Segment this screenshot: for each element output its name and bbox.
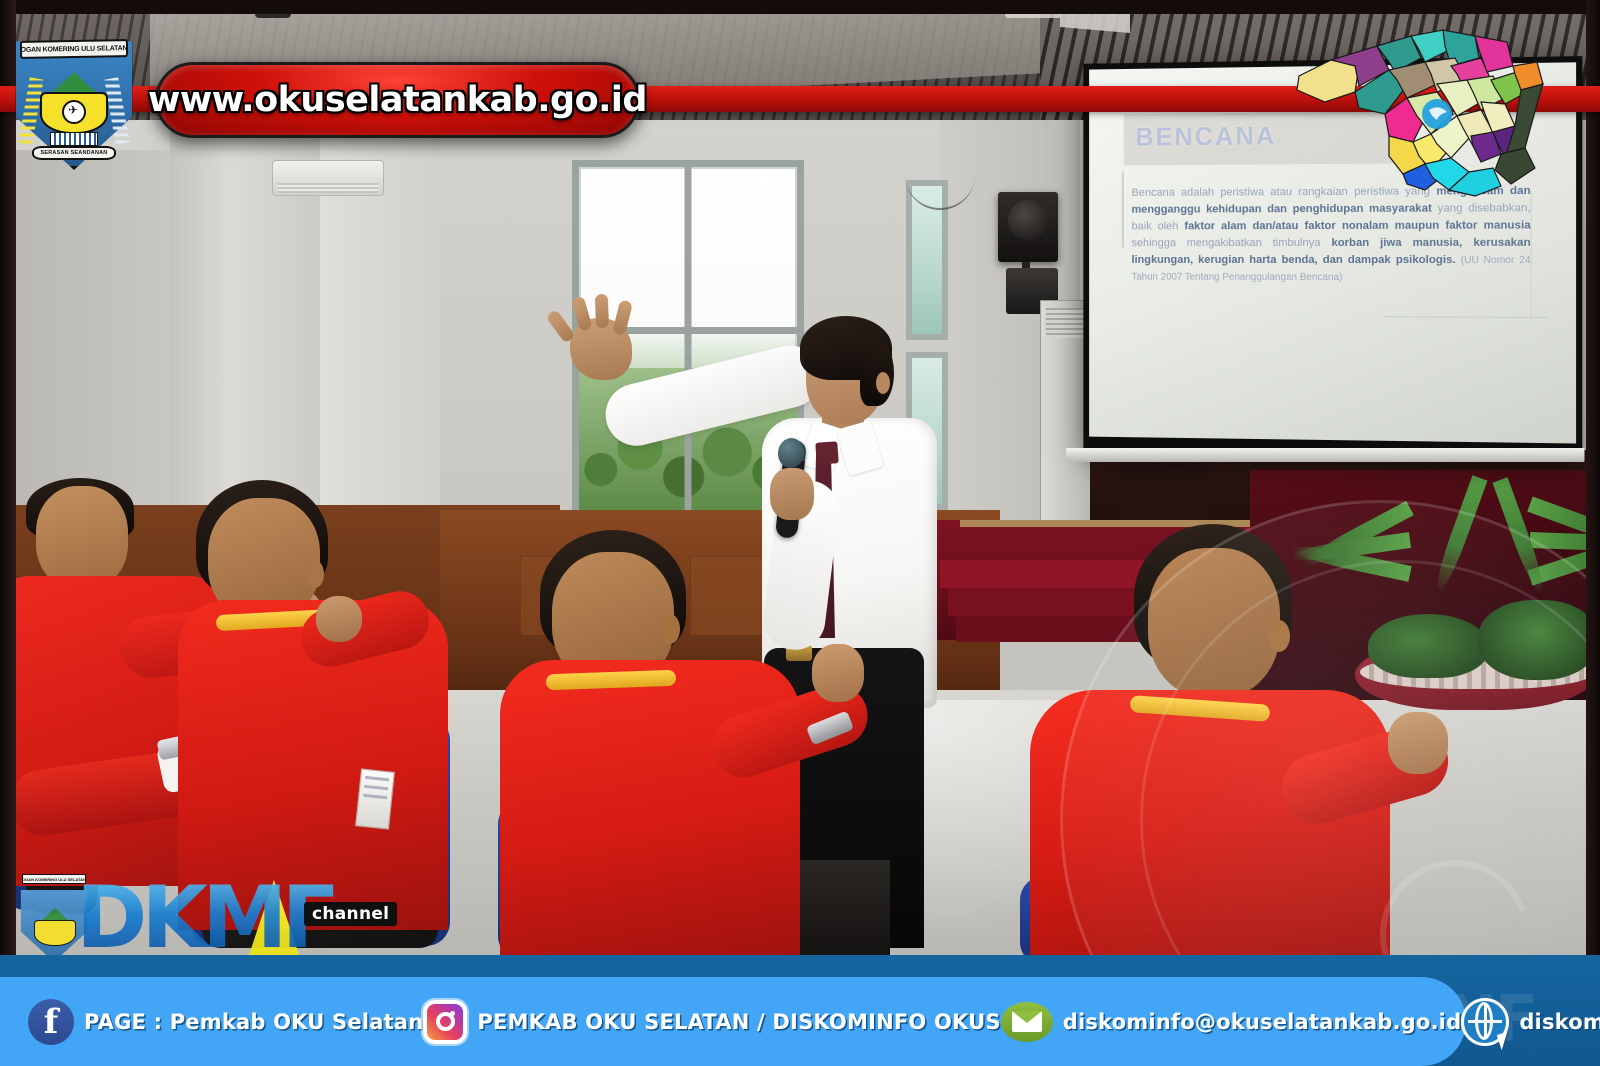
footer-social-bar: f PAGE : Pemkab OKU Selatan PEMKAB OKU S… — [0, 977, 1466, 1066]
presenter-open-hand — [570, 318, 632, 380]
participant-d-uniform — [1030, 690, 1390, 960]
participant-b-hand — [316, 596, 362, 642]
crest-ribbon-text: OGAN KOMERING ULU SELATAN — [21, 45, 128, 54]
participant-b-ear — [306, 560, 324, 588]
shrub-left — [1368, 614, 1488, 678]
participant-d-ear — [1268, 620, 1290, 652]
facebook-icon[interactable]: f — [28, 999, 74, 1045]
slide-accent-bar — [1122, 171, 1124, 248]
facebook-glyph: f — [44, 1003, 59, 1041]
kabupaten-crest: OGAN KOMERING ULU SELATAN SERASAN SEANDA… — [12, 30, 136, 170]
slide-text-bold-2: faktor alam dan/atau faktor nonalam maup… — [1184, 219, 1530, 232]
okus-channel-watermark: OGAN KOMERING ULU SELATAN DKMF channel — [18, 872, 438, 964]
regency-map-overlay — [1285, 18, 1545, 198]
participant-d-head — [1148, 548, 1280, 698]
crest-motto-scroll: SERASAN SEANDANAN — [32, 146, 116, 160]
watermark-channel-badge: channel — [304, 902, 397, 926]
screenshot-root: BENCANA Bencana adalah peristiwa atau ra… — [0, 0, 1600, 1066]
photo-frame-top — [0, 0, 1600, 14]
website-url-banner[interactable]: www.okuselatankab.go.id — [155, 62, 640, 138]
presenter-hair-side — [860, 340, 894, 406]
website-url-text: www.okuselatankab.go.id — [148, 80, 647, 120]
slide-right-rule — [1531, 191, 1532, 321]
participant-a-head — [36, 486, 128, 590]
crest-base-bar — [50, 132, 98, 146]
shrub-right — [1478, 600, 1598, 680]
footer-instagram-label: PEMKAB OKU SELATAN / DISKOMINFO OKUS — [477, 1010, 1000, 1034]
footer-website[interactable]: diskominfo.okuselatankab.go.id — [1461, 998, 1600, 1046]
globe-icon[interactable] — [1461, 998, 1509, 1046]
photo-frame-right — [1586, 0, 1600, 960]
crest-motto-text: SERASAN SEANDANAN — [41, 150, 108, 156]
ac-vent — [278, 183, 378, 193]
presenter-mic-hand — [770, 468, 814, 520]
speaker-cone — [1008, 200, 1048, 240]
crest-bird-icon — [62, 100, 86, 124]
window-mullion-vertical — [685, 167, 692, 513]
participant-b-name-badge — [355, 768, 395, 829]
regency-map-svg — [1285, 18, 1545, 198]
slide-text-mid-2: sehingga mengakibatkan timbulnya — [1132, 237, 1332, 249]
footer-facebook-label: PAGE : Pemkab OKU Selatan — [84, 1010, 423, 1034]
presenter-ear — [876, 372, 890, 394]
watermark-crest-bowl — [34, 920, 76, 946]
presenter-tie-knot — [815, 441, 838, 464]
footer-email[interactable]: diskominfo@okuselatankab.go.id — [1001, 1002, 1462, 1042]
footer-email-label: diskominfo@okuselatankab.go.id — [1063, 1010, 1462, 1034]
envelope-icon[interactable] — [1001, 1002, 1053, 1042]
footer-website-label: diskominfo.okuselatankab.go.id — [1519, 1010, 1600, 1034]
instagram-icon[interactable] — [423, 1000, 467, 1044]
screen-bottom-rail — [1066, 448, 1585, 462]
footer-instagram[interactable]: PEMKAB OKU SELATAN / DISKOMINFO OKUS — [423, 1000, 1000, 1044]
participant-d-hand — [1388, 712, 1448, 774]
participant-c-hand — [812, 644, 864, 702]
participant-c-uniform — [500, 660, 800, 960]
crest-ribbon: OGAN KOMERING ULU SELATAN — [20, 39, 128, 59]
participant-c-ear — [660, 614, 680, 644]
slide-body-text: Bencana adalah peristiwa atau rangkaian … — [1132, 183, 1531, 287]
footer-facebook[interactable]: f PAGE : Pemkab OKU Selatan — [28, 999, 423, 1045]
